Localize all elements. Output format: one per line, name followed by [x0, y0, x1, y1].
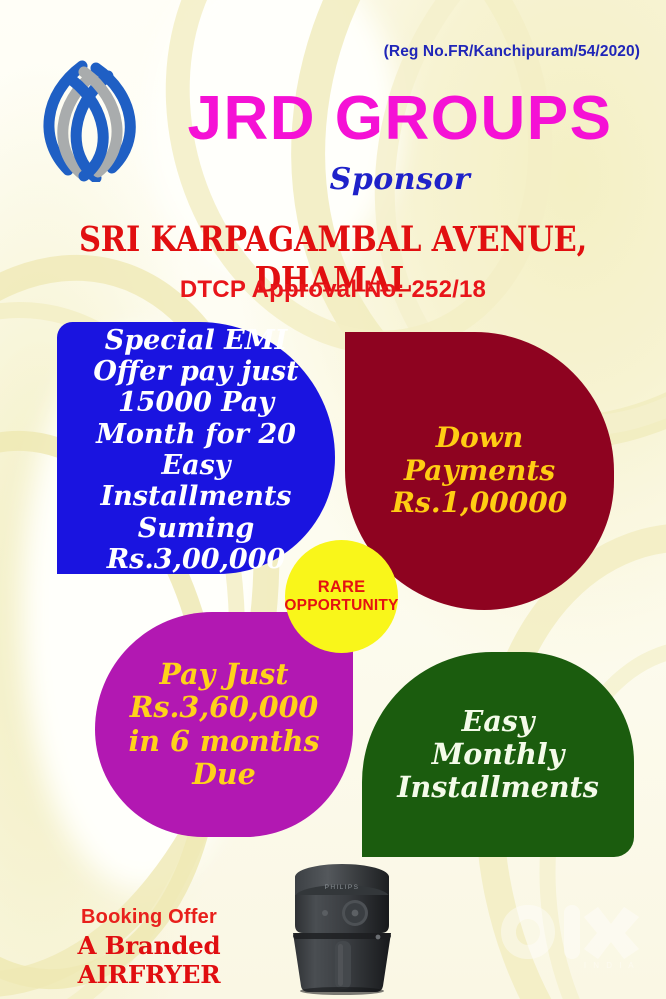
offer-line: Month for 20 Easy: [71, 419, 321, 482]
sponsor-label: Sponsor: [150, 162, 650, 197]
offer-panel-purple-text: Pay Just Rs.3,60,000 in 6 months Due: [128, 658, 319, 790]
offer-line: Rs.3,00,000: [71, 544, 321, 575]
offer-line: Installments: [397, 771, 599, 804]
badge-line-1: RARE: [318, 578, 366, 597]
offer-line: Suming: [71, 513, 321, 544]
offer-line: Due: [128, 758, 319, 791]
offer-panel-special-emi: Special EMI Offer pay just 15000 Pay Mon…: [57, 322, 335, 574]
offer-panel-red-text: Down Payments Rs.1,00000: [392, 422, 567, 519]
offer-line: in 6 months: [128, 725, 319, 758]
offer-line: Down: [392, 422, 567, 454]
poster-flyer: (Reg No.FR/Kanchipuram/54/2020) JRD GROU…: [0, 0, 666, 999]
spiral-helix-logo-icon: [34, 54, 146, 182]
page-title: JRD GROUPS: [150, 88, 650, 150]
offer-line: Special EMI: [71, 325, 321, 356]
dtcp-approval: DTCP Approval No: 252/18: [0, 276, 666, 304]
offer-line: 15000 Pay: [71, 387, 321, 418]
offer-line: Monthly: [397, 738, 599, 771]
offer-line: Rs.1,00000: [392, 487, 567, 519]
gift-label: A Branded AIRFRYER: [18, 931, 280, 989]
airfryer-appliance-icon: PHILIPS: [283, 855, 401, 995]
offer-panel-easy-monthly: Easy Monthly Installments: [362, 652, 634, 857]
offer-line: Pay Just: [128, 658, 319, 691]
badge-line-2: OPPORTUNITY: [284, 597, 398, 615]
rare-opportunity-badge: RARE OPPORTUNITY: [285, 540, 398, 653]
offer-line: Installments: [71, 481, 321, 512]
offer-line: Easy: [397, 705, 599, 738]
offer-line: Payments: [392, 455, 567, 487]
booking-offer-block: Booking Offer A Branded AIRFRYER: [18, 906, 280, 989]
olx-sub-label: I N D I A: [584, 961, 636, 970]
offer-line: Rs.3,60,000: [128, 691, 319, 724]
olx-watermark-icon: I N D I A: [498, 899, 644, 971]
offer-line: Offer pay just: [71, 356, 321, 387]
offer-panel-blue-text: Special EMI Offer pay just 15000 Pay Mon…: [71, 325, 321, 576]
offer-petal-grid: Special EMI Offer pay just 15000 Pay Mon…: [57, 322, 614, 847]
svg-text:PHILIPS: PHILIPS: [325, 884, 360, 891]
booking-offer-label: Booking Offer: [18, 906, 280, 929]
offer-panel-green-text: Easy Monthly Installments: [397, 705, 599, 804]
